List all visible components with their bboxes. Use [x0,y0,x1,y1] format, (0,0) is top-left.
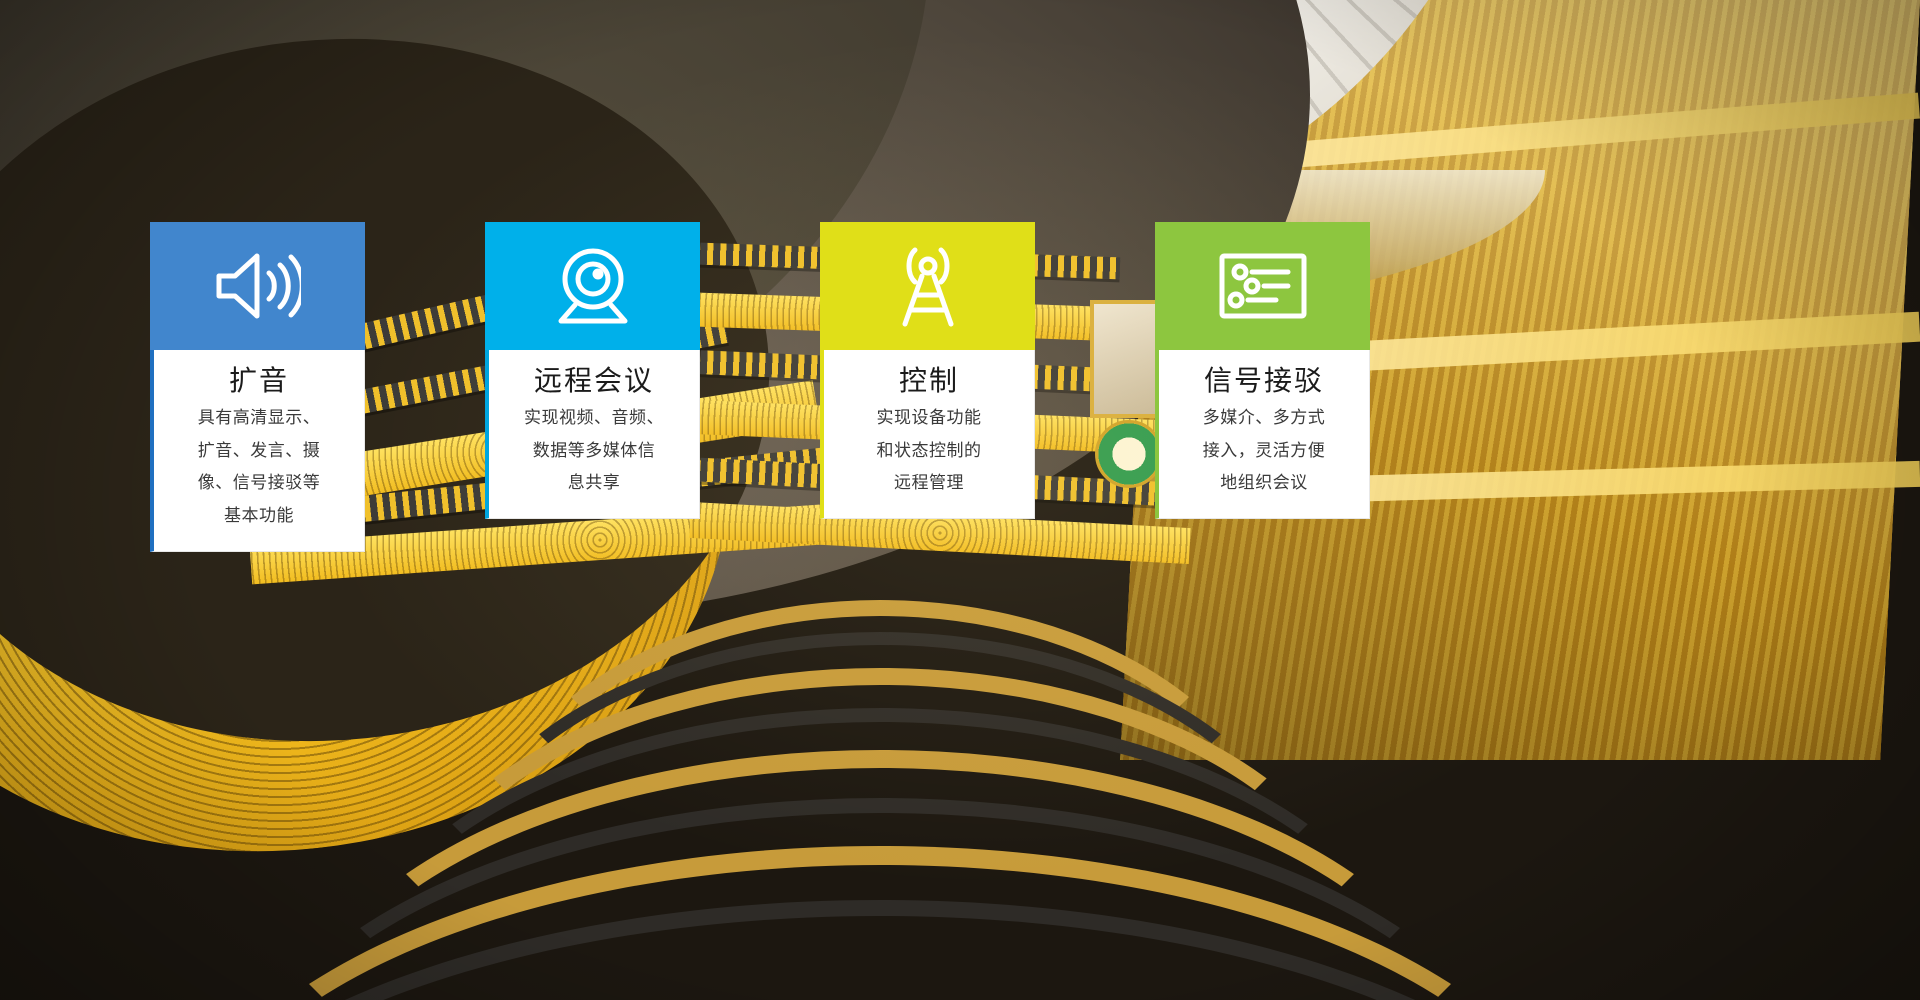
webcam-icon [553,247,633,325]
card-description-line: 息共享 [503,467,685,500]
card-body: 扩音 具有高清显示、 扩音、发言、摄 像、信号接驳等 基本功能 [150,350,365,552]
card-description-line: 地组织会议 [1173,467,1355,500]
card-description-line: 数据等多媒体信 [503,435,685,468]
card-body: 控制 实现设备功能 和状态控制的 远程管理 [820,350,1035,519]
card-icon-header [1155,222,1370,350]
card-description-line: 实现视频、音频、 [503,402,685,435]
feature-card-row: 扩音 具有高清显示、 扩音、发言、摄 像、信号接驳等 基本功能 [0,0,1920,1000]
card-title: 控制 [838,364,1020,398]
card-description-line: 接入，灵活方便 [1173,435,1355,468]
card-description-line: 多媒介、多方式 [1173,402,1355,435]
feature-card-xinhao-jieboa[interactable]: 信号接驳 多媒介、多方式 接入，灵活方便 地组织会议 [1155,222,1370,519]
antenna-tower-icon [893,245,963,327]
card-icon-header [150,222,365,350]
card-description-line: 实现设备功能 [838,402,1020,435]
card-description: 具有高清显示、 扩音、发言、摄 像、信号接驳等 基本功能 [168,402,350,533]
card-description-line: 像、信号接驳等 [168,467,350,500]
card-description-line: 扩音、发言、摄 [168,435,350,468]
speaker-volume-icon [215,249,301,323]
feature-card-yuancheng-huiyi[interactable]: 远程会议 实现视频、音频、 数据等多媒体信 息共享 [485,222,700,519]
card-title: 扩音 [168,364,350,398]
card-description-line: 基本功能 [168,500,350,533]
card-icon-header [485,222,700,350]
card-description: 实现设备功能 和状态控制的 远程管理 [838,402,1020,500]
card-description: 实现视频、音频、 数据等多媒体信 息共享 [503,402,685,500]
card-body: 远程会议 实现视频、音频、 数据等多媒体信 息共享 [485,350,700,519]
feature-card-kuoyin[interactable]: 扩音 具有高清显示、 扩音、发言、摄 像、信号接驳等 基本功能 [150,222,365,552]
feature-card-kongzhi[interactable]: 控制 实现设备功能 和状态控制的 远程管理 [820,222,1035,519]
card-description-line: 远程管理 [838,467,1020,500]
card-description: 多媒介、多方式 接入，灵活方便 地组织会议 [1173,402,1355,500]
card-body: 信号接驳 多媒介、多方式 接入，灵活方便 地组织会议 [1155,350,1370,519]
card-icon-header [820,222,1035,350]
card-description-line: 具有高清显示、 [168,402,350,435]
page-root: 扩音 具有高清显示、 扩音、发言、摄 像、信号接驳等 基本功能 [0,0,1920,1000]
card-title: 信号接驳 [1173,364,1355,398]
card-title: 远程会议 [503,364,685,398]
card-description-line: 和状态控制的 [838,435,1020,468]
signal-mixer-icon [1218,251,1308,321]
